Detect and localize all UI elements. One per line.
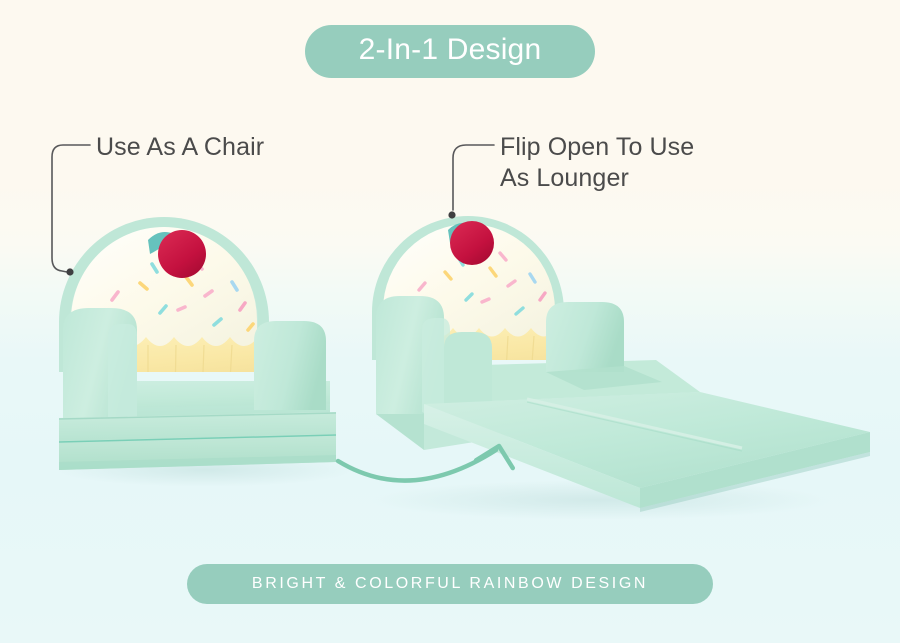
- title-pill: 2-In-1 Design: [305, 25, 595, 78]
- product-chair-folded: [59, 217, 336, 470]
- chair-arm-left-inner: [108, 324, 137, 424]
- callout-connector-lounger: [448, 145, 494, 219]
- infographic-canvas: 2-In-1 Design Use As A Chair Flip Open T…: [0, 0, 900, 643]
- callout-label-use-as-chair: Use As A Chair: [96, 132, 264, 163]
- callout-dot-lounger: [448, 211, 455, 218]
- lounger-cherry-icon: [450, 221, 494, 265]
- callout-dot-chair: [66, 268, 73, 275]
- cherry-icon: [158, 230, 206, 278]
- lounger-arm-right: [546, 302, 624, 372]
- product-lounger-open: [372, 216, 870, 512]
- chair-arm-right: [254, 321, 326, 410]
- callout-label-flip-open-lounger: Flip Open To Use As Lounger: [500, 132, 694, 194]
- flip-open-arrow: [338, 446, 513, 482]
- bottom-banner-pill: BRIGHT & COLORFUL RAINBOW DESIGN: [187, 564, 713, 604]
- product-illustration-layer: [0, 0, 900, 643]
